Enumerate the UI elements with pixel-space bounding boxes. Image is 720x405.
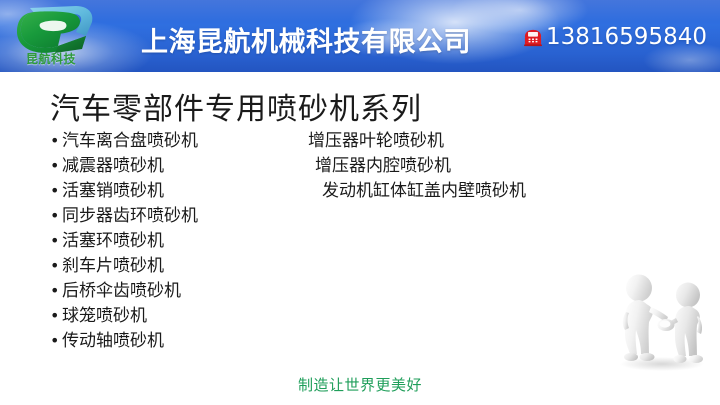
- list-item-primary: • 汽车离合盘喷砂机: [50, 130, 260, 152]
- list-item-label: 后桥伞齿喷砂机: [62, 280, 181, 302]
- list-item: • 同步器齿环喷砂机: [50, 205, 670, 230]
- bullet-marker-icon: •: [50, 330, 62, 352]
- list-item-label: 活塞销喷砂机: [62, 180, 164, 202]
- company-name: 上海昆航机械科技有限公司: [141, 20, 471, 59]
- list-item-label: 同步器齿环喷砂机: [62, 205, 198, 227]
- phone-contact: 13816595840: [522, 24, 707, 50]
- list-item: • 球笼喷砂机: [50, 305, 670, 330]
- company-logo: 昆航科技: [14, 2, 100, 70]
- bullet-marker-icon: •: [50, 230, 62, 252]
- list-item: • 传动轴喷砂机: [50, 330, 670, 355]
- list-item-label: 球笼喷砂机: [62, 305, 147, 327]
- bullet-marker-icon: •: [50, 305, 62, 327]
- bullet-marker-icon: •: [50, 280, 62, 302]
- list-item: • 减震器喷砂机 增压器内腔喷砂机: [50, 155, 670, 180]
- list-item-primary: • 后桥伞齿喷砂机: [50, 280, 260, 302]
- bullet-marker-icon: •: [50, 155, 62, 177]
- page-title: 汽车零部件专用喷砂机系列: [50, 84, 422, 128]
- bullet-marker-icon: •: [50, 130, 62, 152]
- product-list: • 汽车离合盘喷砂机 增压器叶轮喷砂机 • 减震器喷砂机 增压器内腔喷砂机 • …: [50, 130, 670, 355]
- list-item-primary: • 同步器齿环喷砂机: [50, 205, 260, 227]
- list-item-label: 汽车离合盘喷砂机: [62, 130, 198, 152]
- bullet-marker-icon: •: [50, 180, 62, 202]
- list-item-secondary: 增压器内腔喷砂机: [315, 155, 451, 177]
- list-item: • 后桥伞齿喷砂机: [50, 280, 670, 305]
- list-item-primary: • 刹车片喷砂机: [50, 255, 260, 277]
- list-item: • 活塞销喷砂机 发动机缸体缸盖内壁喷砂机: [50, 180, 670, 205]
- phone-number: 13816595840: [546, 24, 707, 50]
- list-item-label: 刹车片喷砂机: [62, 255, 164, 277]
- list-item-primary: • 活塞环喷砂机: [50, 230, 260, 252]
- logo-text: 昆航科技: [26, 50, 76, 67]
- list-item-label: 减震器喷砂机: [62, 155, 164, 177]
- list-item-primary: • 减震器喷砂机: [50, 155, 260, 177]
- list-item-label: 活塞环喷砂机: [62, 230, 164, 252]
- list-item-secondary: 发动机缸体缸盖内壁喷砂机: [322, 180, 526, 202]
- list-item-primary: • 球笼喷砂机: [50, 305, 260, 327]
- handshake-decoration: [608, 272, 716, 372]
- list-item: • 汽车离合盘喷砂机 增压器叶轮喷砂机: [50, 130, 670, 155]
- handshake-figures-icon: [608, 272, 716, 372]
- list-item-primary: • 传动轴喷砂机: [50, 330, 260, 352]
- list-item-primary: • 活塞销喷砂机: [50, 180, 260, 202]
- footer-slogan: 制造让世界更美好: [0, 374, 720, 395]
- list-item-secondary: 增压器叶轮喷砂机: [308, 130, 444, 152]
- list-item-label: 传动轴喷砂机: [62, 330, 164, 352]
- slide-canvas: 昆航科技 上海昆航机械科技有限公司 13816595840 汽车零部件专用喷砂机…: [0, 0, 720, 405]
- bullet-marker-icon: •: [50, 255, 62, 277]
- list-item: • 活塞环喷砂机: [50, 230, 670, 255]
- list-item: • 刹车片喷砂机: [50, 255, 670, 280]
- telephone-icon: [522, 26, 544, 48]
- bullet-marker-icon: •: [50, 205, 62, 227]
